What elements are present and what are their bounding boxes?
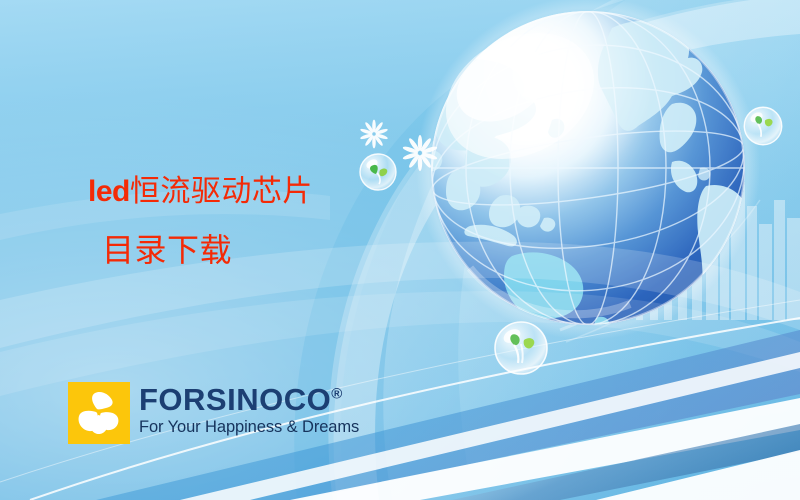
logo-tagline: For Your Happiness & Dreams <box>139 417 359 437</box>
logo-text-block: FORSINOCO® For Your Happiness & Dreams <box>139 382 359 437</box>
registered-trademark-icon: ® <box>331 386 342 403</box>
eco-pinwheel-bubble-icon <box>360 154 396 190</box>
logo-wordmark-text: FORSINOCO <box>139 382 331 417</box>
four-petal-pinwheel-icon <box>68 382 130 444</box>
promo-banner: led恒流驱动芯片 目录下载 FORSINOCO® For Your Happi… <box>0 0 800 500</box>
eco-leaf-bubble-icon <box>744 107 781 144</box>
brand-logo[interactable]: FORSINOCO® For Your Happiness & Dreams <box>68 382 359 444</box>
logo-wordmark: FORSINOCO® <box>139 383 359 416</box>
eco-leaf-bubble-icon <box>495 322 547 374</box>
